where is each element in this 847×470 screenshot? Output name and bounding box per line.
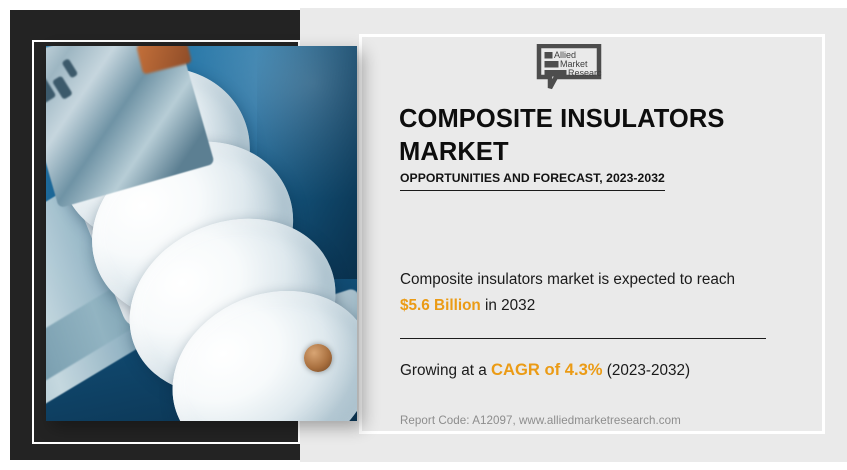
allied-market-research-logo: Allied Market Research xyxy=(536,44,602,92)
logo-bar-3 xyxy=(545,70,567,77)
section-divider xyxy=(400,338,766,339)
report-code-footer: Report Code: A12097, www.alliedmarketres… xyxy=(400,414,681,427)
logo-text-line-3: Research xyxy=(568,68,602,78)
product-photo xyxy=(46,46,357,421)
market-value-statement: Composite insulators market is expected … xyxy=(400,267,768,320)
logo-bar-1 xyxy=(545,52,553,59)
market-value-lead: Composite insulators market is expected … xyxy=(400,271,735,288)
cagr-trail: (2023-2032) xyxy=(603,362,691,379)
cagr-lead: Growing at a xyxy=(400,362,491,379)
logo-text-line-2: Market xyxy=(560,59,588,69)
page-title: COMPOSITE INSULATORS MARKET xyxy=(399,103,759,168)
photo-clamp-slot xyxy=(46,74,55,104)
market-value-trail: in 2032 xyxy=(481,297,535,314)
infographic-root: Allied Market Research COMPOSITE INSULAT… xyxy=(0,0,847,470)
logo-bar-2 xyxy=(545,61,559,68)
report-subtitle: OPPORTUNITIES AND FORECAST, 2023-2032 xyxy=(400,171,665,191)
market-value-figure: $5.6 Billion xyxy=(400,297,481,314)
product-photo-image xyxy=(46,46,357,421)
cagr-figure: CAGR of 4.3% xyxy=(491,360,603,379)
logo-speech-bubble-icon: Allied Market Research xyxy=(536,44,602,92)
logo-text-line-1: Allied xyxy=(554,50,576,60)
cagr-statement: Growing at a CAGR of 4.3% (2023-2032) xyxy=(400,358,780,383)
photo-clamp-slot xyxy=(61,58,78,78)
